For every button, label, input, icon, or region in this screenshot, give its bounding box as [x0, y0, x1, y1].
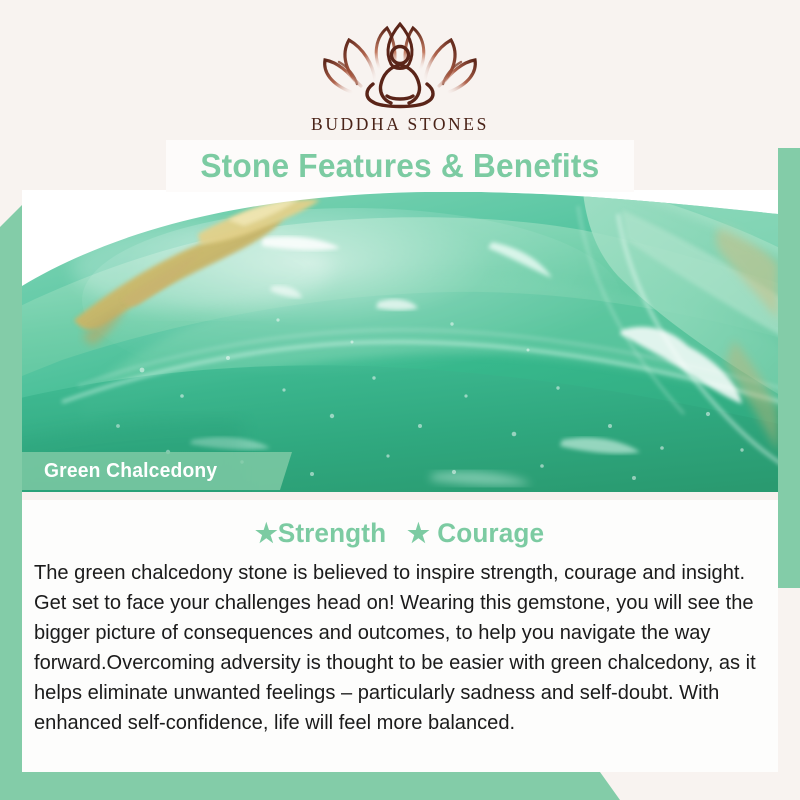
accent-bar-left: [0, 205, 22, 790]
poster-canvas: BUDDHA STONES: [0, 0, 800, 800]
brand-name: BUDDHA STONES: [280, 114, 520, 135]
brand-logo: BUDDHA STONES: [280, 20, 520, 135]
stone-name-label: Green Chalcedony: [44, 459, 217, 483]
green-chalcedony-image: [22, 190, 778, 492]
benefit-strength-label: Strength: [278, 518, 386, 548]
title-banner: Stone Features & Benefits: [166, 140, 634, 192]
benefit-courage-label: Courage: [438, 518, 545, 548]
page-title: Stone Features & Benefits: [200, 147, 599, 185]
stone-photo: [22, 190, 778, 492]
star-icon-courage: ★: [408, 518, 431, 548]
benefit-courage: ★ Courage: [408, 518, 545, 549]
accent-bar-bottom: [0, 772, 620, 800]
content-panel: ★Strength★ Courage The green chalcedony …: [22, 500, 778, 772]
stone-name-banner: Green Chalcedony: [22, 452, 292, 490]
benefits-row: ★Strength★ Courage: [22, 518, 778, 549]
star-icon-strength: ★: [255, 518, 278, 548]
description-text: The green chalcedony stone is believed t…: [34, 558, 757, 738]
lotus-meditation-icon: [315, 20, 485, 112]
accent-bar-right-notch: [778, 588, 800, 800]
benefit-strength: ★Strength: [255, 518, 386, 549]
header: BUDDHA STONES: [0, 0, 800, 148]
